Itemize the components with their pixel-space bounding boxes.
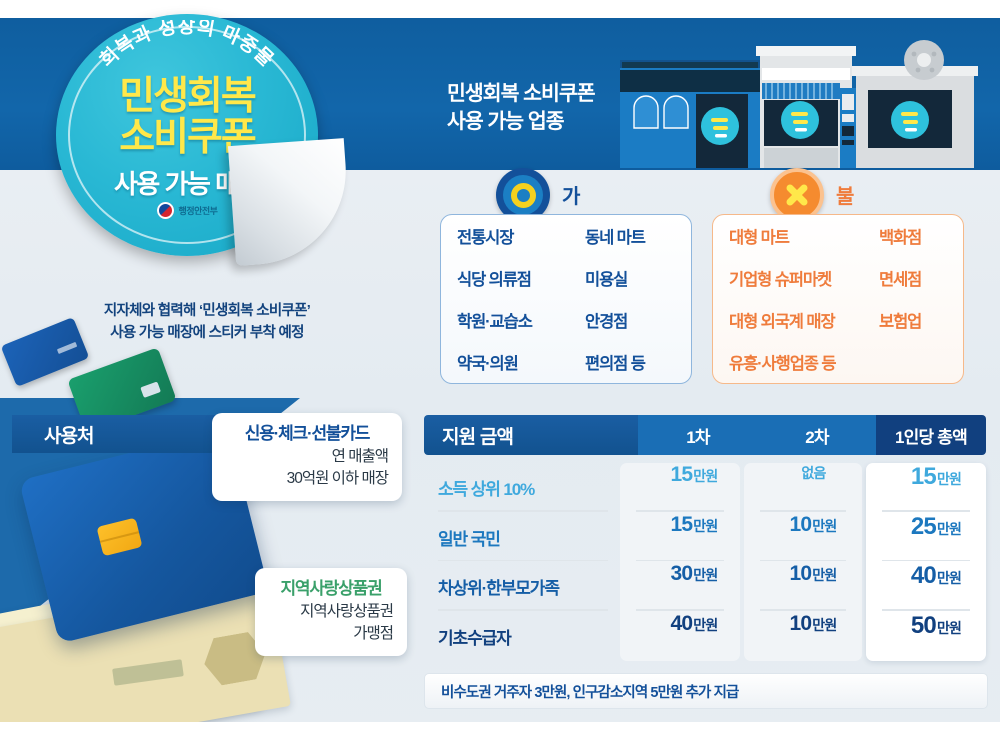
row-round1: 30 만원	[634, 562, 754, 612]
amount-unit: 만원	[937, 568, 961, 588]
allowed-item-left: 식당 의류점	[457, 266, 585, 290]
usage-places-banner: 사용처	[12, 415, 222, 453]
blocked-item-left: 대형 마트	[729, 224, 879, 248]
amount-number: 15	[911, 463, 936, 491]
page-title: 민생회복 소비쿠폰 사용 가능 업종	[447, 80, 595, 136]
row-round2: 10 만원	[754, 612, 872, 662]
amount-number: 50	[911, 612, 936, 640]
blocked-item-left: 유흥·사행업종 등	[729, 350, 879, 374]
allowed-item-right: 미용실	[585, 266, 675, 290]
table-header-col3: 1인당 총액	[876, 415, 986, 455]
amount-number: 10	[790, 513, 812, 537]
sticker-arc-text: 회복과 성장의 마중물	[96, 20, 279, 72]
amount-number: 10	[790, 612, 812, 636]
row-divider	[882, 609, 970, 611]
row-label: 일반 국민	[424, 513, 634, 563]
table-header-col2: 2차	[758, 415, 876, 455]
amount-unit: 만원	[937, 519, 961, 539]
allowed-item-right: 편의점 등	[585, 350, 675, 374]
amount-unit: 만원	[693, 565, 717, 585]
amount-number: 40	[911, 562, 936, 590]
amount-number: 15	[671, 513, 693, 537]
list-item: 유흥·사행업종 등	[713, 341, 963, 383]
sticker-peel-corner	[228, 138, 352, 266]
amount-unit: 만원	[937, 469, 961, 489]
coupon-sticker: 회복과 성장의 마중물 민생회복 소비쿠폰 사용 가능 매장 행정안전부	[56, 14, 336, 264]
amount-number: 10	[790, 562, 812, 586]
row-divider	[438, 510, 608, 512]
caption-line1: 지자체와 협력해 ‘민생회복 소비쿠폰’	[52, 300, 362, 322]
callout-voucher-title: 지역사랑상품권	[269, 577, 393, 601]
amount-number: 25	[911, 513, 936, 541]
row-label: 기초수급자	[424, 612, 634, 662]
allowed-item-left: 전통시장	[457, 224, 585, 248]
table-header-label: 지원 금액	[424, 415, 638, 455]
blocked-item-right: 면세점	[879, 266, 947, 290]
allowed-list: 전통시장 동네 마트 식당 의류점 미용실 학원·교습소 안경점 약국·의원 편…	[440, 214, 692, 384]
amount-unit: 만원	[937, 618, 961, 638]
amount-unit: 만원	[812, 516, 836, 536]
support-amount-table: 지원 금액 1차 2차 1인당 총액 소득 상위 10% 15 만원	[424, 415, 986, 675]
row-divider	[438, 560, 608, 562]
bottom-white-margin	[0, 722, 1000, 748]
row-label: 소득 상위 10%	[424, 463, 634, 513]
callout-voucher: 지역사랑상품권 지역사랑상품권 가맹점	[255, 568, 407, 656]
callout-voucher-body-line1: 지역사랑상품권	[269, 601, 393, 623]
x-mark-icon	[782, 180, 812, 210]
list-item: 전통시장 동네 마트	[441, 215, 691, 257]
sticker-caption: 지자체와 협력해 ‘민생회복 소비쿠폰’ 사용 가능 매장에 스티커 부착 예정	[52, 300, 362, 344]
card-stripe	[57, 342, 77, 354]
usage-places-label: 사용처	[44, 421, 93, 448]
amount-unit: 만원	[693, 516, 717, 536]
taegeuk-icon	[157, 202, 174, 219]
svg-text:회복과 성장의 마중물: 회복과 성장의 마중물	[96, 20, 279, 72]
row-round2: 10 만원	[754, 513, 872, 563]
table-header-row: 지원 금액 1차 2차 1인당 총액	[424, 415, 986, 455]
callout-voucher-body: 지역사랑상품권 가맹점	[269, 601, 393, 645]
allowed-item-right: 안경점	[585, 308, 675, 332]
callout-card-title: 신용·체크·선불카드	[226, 422, 388, 446]
row-total: 25 만원	[876, 513, 996, 563]
blocked-item-left: 대형 외국계 매장	[729, 308, 879, 332]
list-item: 대형 외국계 매장 보험업	[713, 299, 963, 341]
list-item: 학원·교습소 안경점	[441, 299, 691, 341]
row-total: 15 만원	[876, 463, 996, 513]
table-row: 차상위·한부모가족 30 만원 10 만원 40 만원	[424, 562, 986, 612]
allowed-item-left: 약국·의원	[457, 350, 585, 374]
row-divider	[760, 560, 846, 562]
infographic-page: 회복과 성장의 마중물 민생회복 소비쿠폰 사용 가능 매장 행정안전부 지자체…	[0, 0, 1000, 748]
blocked-list: 대형 마트 백화점 기업형 슈퍼마켓 면세점 대형 외국계 매장 보험업 유흥·…	[712, 214, 964, 384]
blocked-item-right: 보험업	[879, 308, 947, 332]
row-divider	[882, 560, 970, 562]
row-divider	[636, 510, 724, 512]
row-divider	[438, 609, 608, 611]
voucher-bar	[112, 659, 184, 686]
amount-unit: 만원	[812, 615, 836, 635]
row-divider	[636, 560, 724, 562]
amount-number: 15	[671, 463, 693, 487]
circle-o-ring	[511, 183, 536, 208]
callout-card-body-line2: 30억원 이하 매장	[226, 468, 388, 490]
table-body: 소득 상위 10% 15 만원 없음 15 만원	[424, 463, 986, 661]
callout-voucher-body-line2: 가맹점	[269, 623, 393, 645]
row-round1: 15 만원	[634, 463, 754, 513]
table-row: 소득 상위 10% 15 만원 없음 15 만원	[424, 463, 986, 513]
row-label: 차상위·한부모가족	[424, 562, 634, 612]
sticker-title-line1: 민생회복	[56, 76, 318, 117]
amount-unit: 만원	[693, 466, 717, 486]
row-divider	[760, 609, 846, 611]
amount-unit: 만원	[693, 615, 717, 635]
callout-card-body: 연 매출액 30억원 이하 매장	[226, 446, 388, 490]
page-title-line2: 사용 가능 업종	[447, 108, 595, 136]
row-divider	[882, 510, 970, 512]
list-item: 약국·의원 편의점 등	[441, 341, 691, 383]
list-item: 대형 마트 백화점	[713, 215, 963, 257]
row-round1: 15 만원	[634, 513, 754, 563]
table-row: 일반 국민 15 만원 10 만원 25 만원	[424, 513, 986, 563]
circle-o-inner	[503, 175, 543, 215]
amount-unit: 없음	[801, 463, 825, 483]
gov-label: 행정안전부	[179, 204, 218, 217]
caption-line2: 사용 가능 매장에 스티커 부착 예정	[52, 322, 362, 344]
allowed-item-left: 학원·교습소	[457, 308, 585, 332]
card-chip	[140, 381, 161, 397]
card-chip	[96, 518, 142, 557]
table-header-col1: 1차	[638, 415, 758, 455]
blocked-item-left: 기업형 슈퍼마켓	[729, 266, 879, 290]
amount-unit: 만원	[812, 565, 836, 585]
amount-number: 30	[671, 562, 693, 586]
table-footnote: 비수도권 거주자 3만원, 인구감소지역 5만원 추가 지급	[424, 673, 988, 709]
footnote-text: 비수도권 거주자 3만원, 인구감소지역 5만원 추가 지급	[441, 681, 738, 702]
callout-card-types: 신용·체크·선불카드 연 매출액 30억원 이하 매장	[212, 413, 402, 501]
row-divider	[636, 609, 724, 611]
table-row: 기초수급자 40 만원 10 만원 50 만원	[424, 612, 986, 662]
callout-card-body-line1: 연 매출액	[226, 446, 388, 468]
row-round2: 10 만원	[754, 562, 872, 612]
storefront-illustration	[612, 28, 980, 170]
row-total: 40 만원	[876, 562, 996, 612]
list-item: 기업형 슈퍼마켓 면세점	[713, 257, 963, 299]
list-item: 식당 의류점 미용실	[441, 257, 691, 299]
blocked-item-right: 백화점	[879, 224, 947, 248]
allowed-item-right: 동네 마트	[585, 224, 675, 248]
page-title-line1: 민생회복 소비쿠폰	[447, 80, 595, 108]
amount-number: 40	[671, 612, 693, 636]
row-divider	[760, 510, 846, 512]
row-total: 50 만원	[876, 612, 996, 662]
row-round1: 40 만원	[634, 612, 754, 662]
row-round2: 없음	[754, 463, 872, 513]
